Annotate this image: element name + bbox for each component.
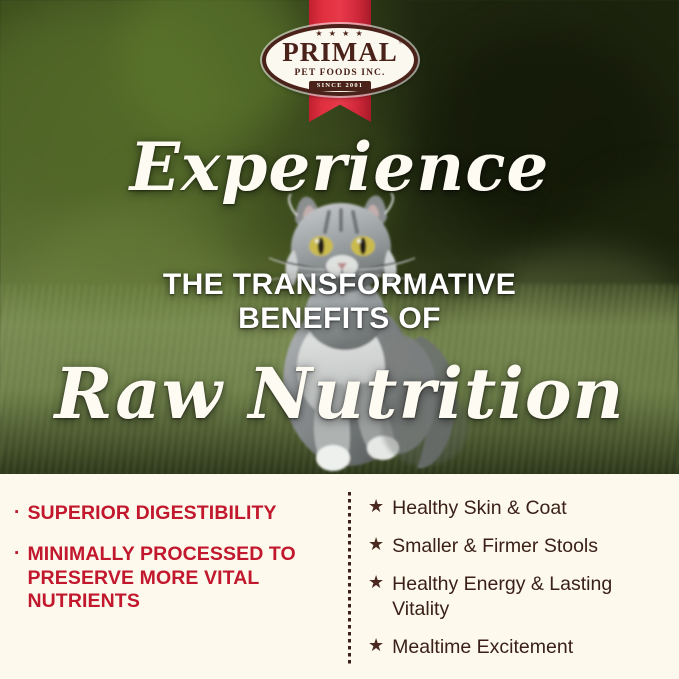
logo-subtitle: PET FOODS INC. — [295, 69, 386, 79]
list-item: · SUPERIOR DIGESTIBILITY — [14, 502, 322, 526]
list-item-label: SUPERIOR DIGESTIBILITY — [27, 502, 276, 526]
list-item-label: Mealtime Excitement — [392, 635, 573, 659]
list-item: ★ Healthy Energy & Lasting Vitality — [368, 572, 669, 620]
benefits-panel: · SUPERIOR DIGESTIBILITY · MINIMALLY PRO… — [0, 474, 679, 679]
headline-script-top: Experience — [0, 128, 679, 206]
list-item: ★ Smaller & Firmer Stools — [368, 534, 669, 558]
star-icon: ★ — [368, 572, 384, 594]
column-divider-dotted — [348, 492, 351, 664]
star-icon: ★ — [368, 496, 384, 518]
headline-middle-line1: THE TRANSFORMATIVE — [0, 268, 679, 302]
logo-brand-name: PRIMAL ™ — [282, 39, 398, 66]
logo-brand-text: PRIMAL — [282, 37, 398, 67]
star-icon: ★ — [368, 635, 384, 657]
logo-since-badge: SINCE 2001 — [309, 81, 372, 91]
bullet-dot-icon: · — [14, 502, 20, 524]
list-item-label: Healthy Energy & Lasting Vitality — [392, 572, 669, 620]
list-item: ★ Healthy Skin & Coat — [368, 496, 669, 520]
list-item: ★ Mealtime Excitement — [368, 635, 669, 659]
headline-middle: THE TRANSFORMATIVE BENEFITS OF — [0, 268, 679, 336]
headline-middle-line2: BENEFITS OF — [0, 302, 679, 336]
list-item-label: Healthy Skin & Coat — [392, 496, 567, 520]
bullet-dot-icon: · — [14, 543, 20, 565]
benefits-left-column: · SUPERIOR DIGESTIBILITY · MINIMALLY PRO… — [0, 474, 340, 679]
benefits-right-column: ★ Healthy Skin & Coat ★ Smaller & Firmer… — [340, 474, 679, 679]
logo-contents: ★ ★ ★ ★ PRIMAL ™ PET FOODS INC. SINCE 20… — [262, 24, 418, 96]
trademark-symbol: ™ — [399, 41, 406, 47]
headline-script-bottom: Raw Nutrition — [0, 352, 679, 435]
star-icon: ★ — [368, 534, 384, 556]
hero-photo: ★ ★ ★ ★ PRIMAL ™ PET FOODS INC. SINCE 20… — [0, 0, 679, 474]
list-item-label: Smaller & Firmer Stools — [392, 534, 598, 558]
advertisement-banner: ★ ★ ★ ★ PRIMAL ™ PET FOODS INC. SINCE 20… — [0, 0, 679, 679]
list-item: · MINIMALLY PROCESSED TO PRESERVE MORE V… — [14, 543, 322, 614]
primal-pet-foods-logo[interactable]: ★ ★ ★ ★ PRIMAL ™ PET FOODS INC. SINCE 20… — [262, 24, 418, 96]
list-item-label: MINIMALLY PROCESSED TO PRESERVE MORE VIT… — [27, 543, 322, 614]
